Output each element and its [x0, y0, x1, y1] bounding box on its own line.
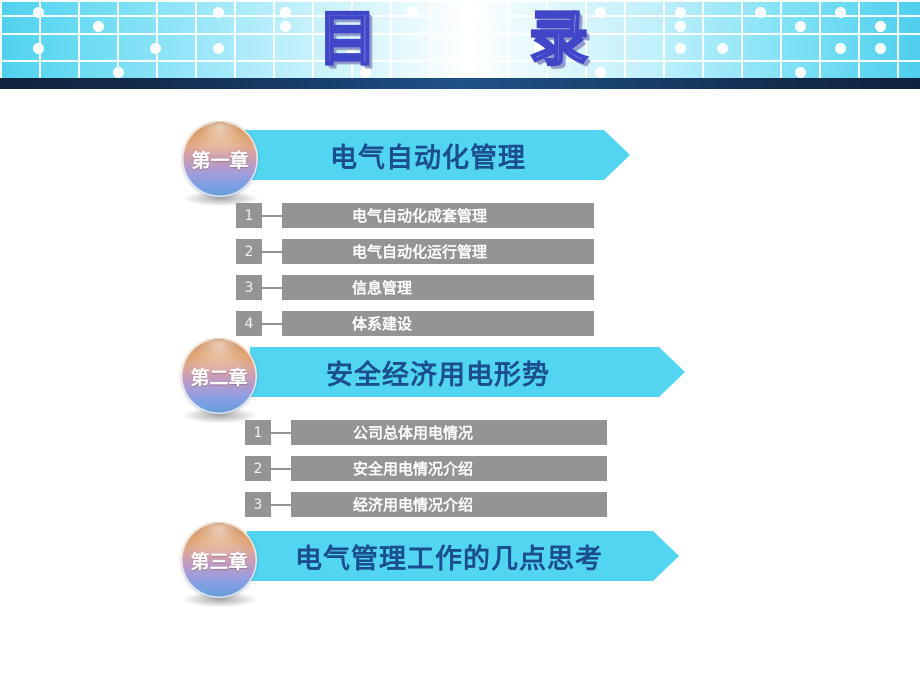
subitem-number-badge: 4 — [236, 311, 262, 336]
subitem-label: 信息管理 — [352, 277, 412, 298]
chapter-badge-label: 第三章 — [181, 522, 257, 598]
subitem-bar: 公司总体用电情况 — [291, 420, 607, 445]
chapter-sphere[interactable]: 第三章 — [181, 522, 259, 610]
subitem-label: 安全用电情况介绍 — [353, 458, 473, 479]
subitem-connector-line — [271, 468, 291, 470]
subitem-label: 电气自动化成套管理 — [352, 205, 487, 226]
chapter-subitem[interactable]: 2电气自动化运行管理 — [236, 239, 594, 264]
subitem-bar: 电气自动化成套管理 — [282, 203, 594, 228]
chapter-heading: 安全经济用电形势 — [326, 353, 550, 392]
chapter-heading: 电气管理工作的几点思考 — [295, 537, 603, 576]
chapter-sphere[interactable]: 第一章 — [182, 121, 260, 209]
subitem-bar: 安全用电情况介绍 — [291, 456, 607, 481]
chapter-badge-label: 第一章 — [182, 121, 258, 197]
slide-root: 目 录 电气自动化管理第一章1电气自动化成套管理2电气自动化运行管理3信息管理4… — [0, 0, 920, 690]
subitem-label: 电气自动化运行管理 — [352, 241, 487, 262]
subitem-connector-line — [271, 432, 291, 434]
chapter-badge-label: 第二章 — [181, 338, 257, 414]
subitem-bar: 体系建设 — [282, 311, 594, 336]
chapter-subitem[interactable]: 2安全用电情况介绍 — [245, 456, 607, 481]
chapter-banner[interactable]: 安全经济用电形势 — [250, 347, 685, 397]
subitem-number-badge: 1 — [245, 420, 271, 445]
navy-divider-bar — [0, 78, 920, 89]
chapter-subitem[interactable]: 3信息管理 — [236, 275, 594, 300]
chapter-heading: 电气自动化管理 — [330, 136, 526, 175]
subitem-connector-line — [262, 251, 282, 253]
chapter-banner[interactable]: 电气管理工作的几点思考 — [247, 531, 679, 581]
subitem-connector-line — [262, 323, 282, 325]
subitem-label: 公司总体用电情况 — [353, 422, 473, 443]
subitem-connector-line — [262, 287, 282, 289]
subitem-label: 经济用电情况介绍 — [353, 494, 473, 515]
subitem-number-badge: 3 — [236, 275, 262, 300]
chapter-subitem[interactable]: 3经济用电情况介绍 — [245, 492, 607, 517]
subitem-bar: 经济用电情况介绍 — [291, 492, 607, 517]
subitem-bar: 信息管理 — [282, 275, 594, 300]
subitem-connector-line — [271, 504, 291, 506]
subitem-bar: 电气自动化运行管理 — [282, 239, 594, 264]
subitem-label: 体系建设 — [352, 313, 412, 334]
chapter-subitem[interactable]: 1电气自动化成套管理 — [236, 203, 594, 228]
subitem-number-badge: 1 — [236, 203, 262, 228]
chapter-banner[interactable]: 电气自动化管理 — [240, 130, 630, 180]
subitem-number-badge: 3 — [245, 492, 271, 517]
chapter-subitem[interactable]: 4体系建设 — [236, 311, 594, 336]
page-title: 目 录 — [0, 6, 920, 72]
chapter-subitem[interactable]: 1公司总体用电情况 — [245, 420, 607, 445]
subitem-connector-line — [262, 215, 282, 217]
subitem-number-badge: 2 — [236, 239, 262, 264]
subitem-number-badge: 2 — [245, 456, 271, 481]
chapter-sphere[interactable]: 第二章 — [181, 338, 259, 426]
